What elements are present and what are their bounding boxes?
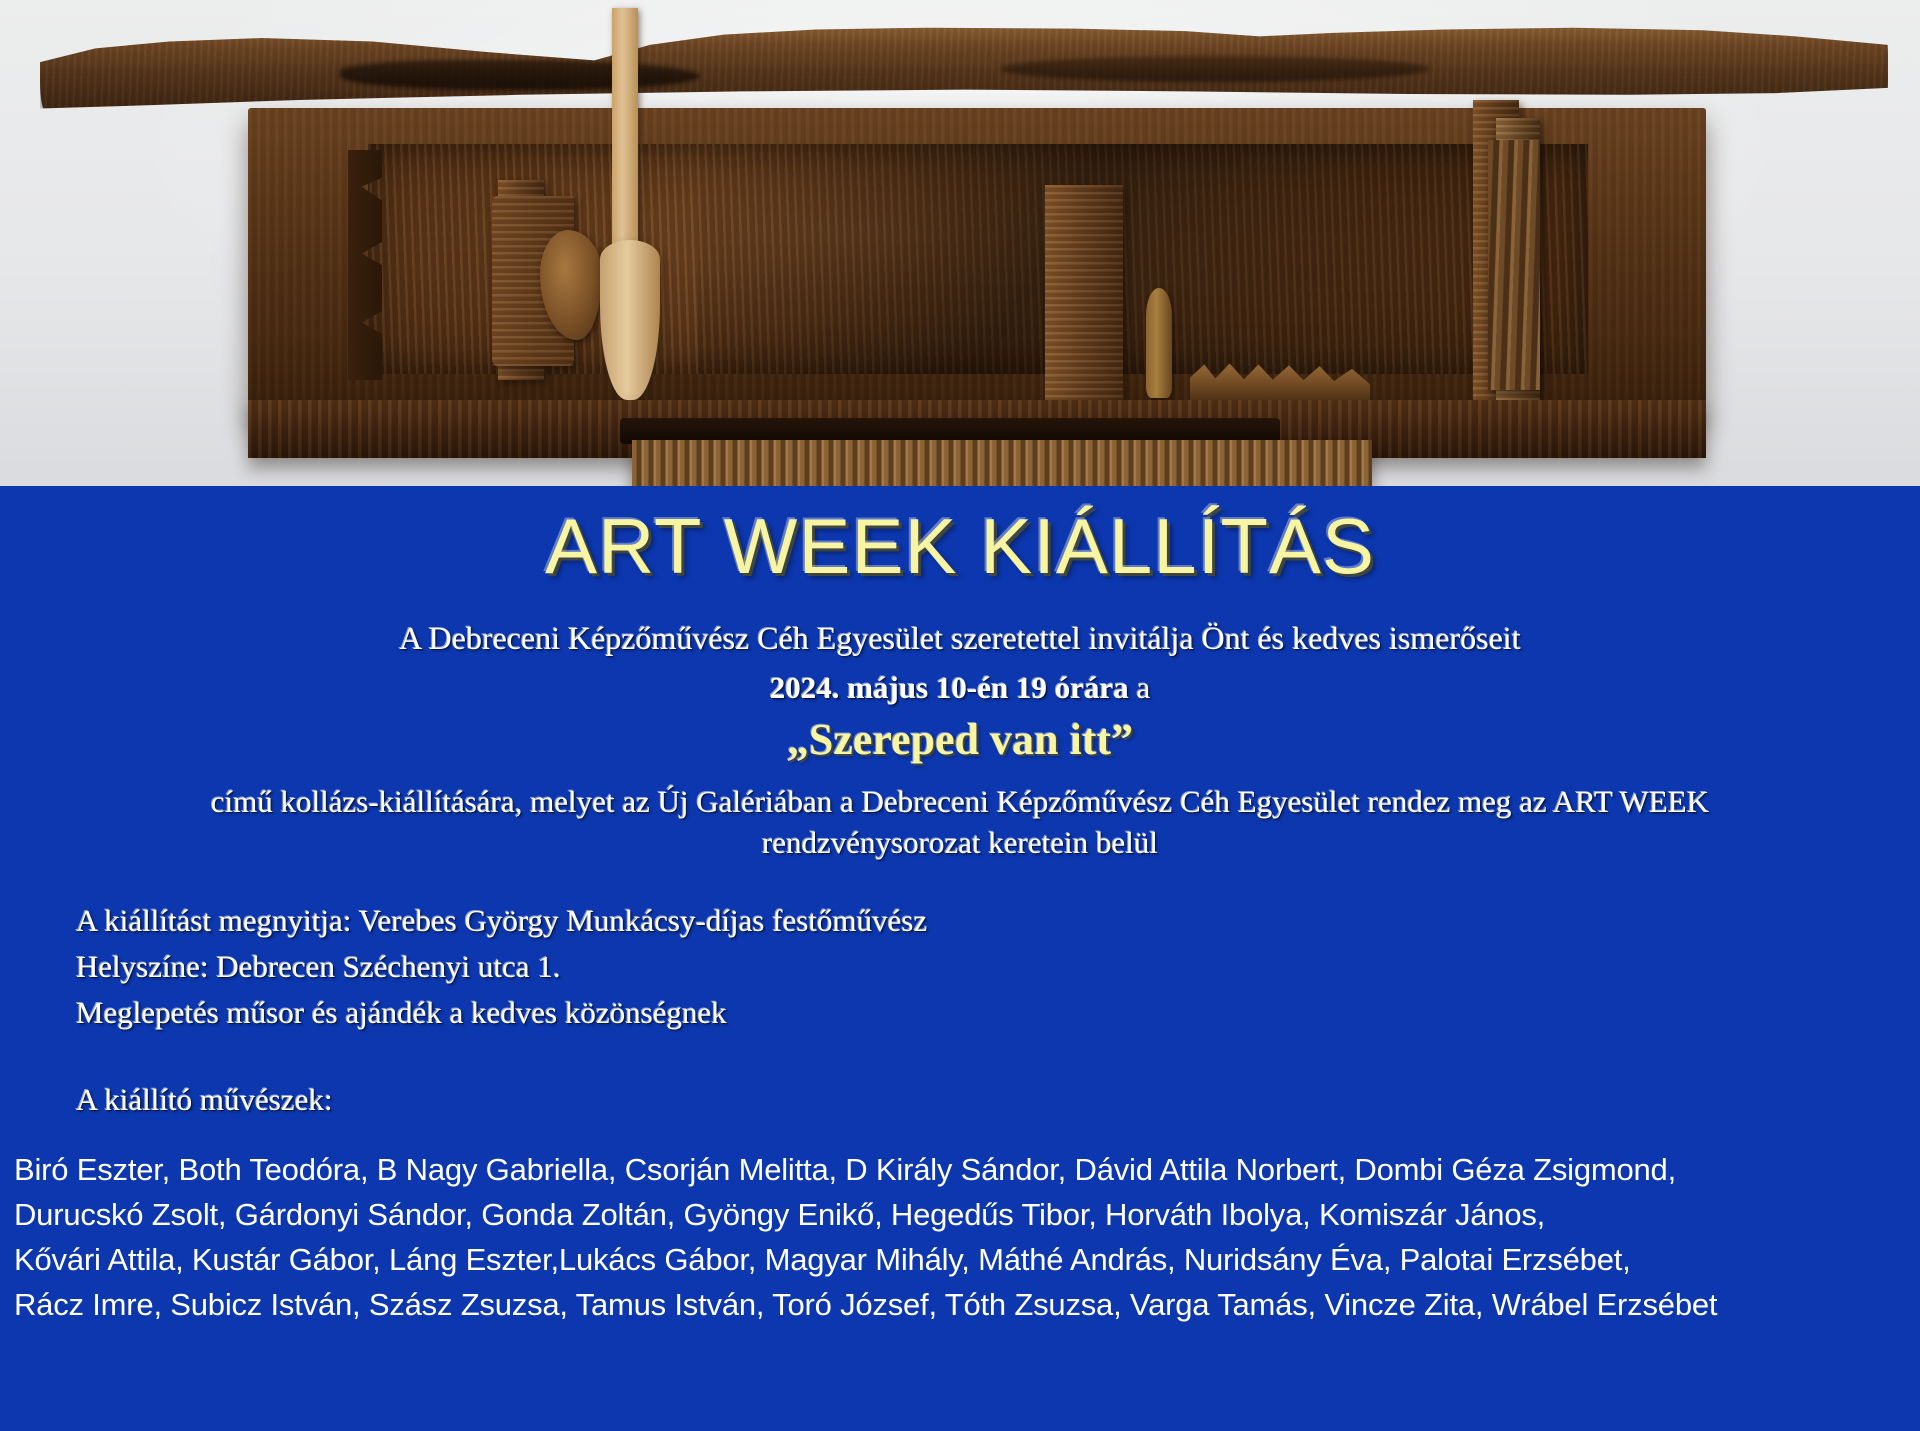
description-line-1: című kollázs-kiállítására, melyet az Új …: [40, 782, 1880, 823]
poster-title: ART WEEK KIÁLLÍTÁS: [0, 506, 1920, 588]
description-block: című kollázs-kiállítására, melyet az Új …: [40, 782, 1880, 864]
opener-line: A kiállítást megnyitja: Verebes György M…: [76, 898, 927, 944]
exhibition-work-title: „Szereped van itt”: [0, 714, 1920, 765]
artist-name-list: Biró Eszter, Both Teodóra, B Nagy Gabrie…: [14, 1148, 1906, 1328]
date-tail: a: [1129, 670, 1151, 705]
top-plank-char-mark-left: [340, 60, 700, 90]
wooden-assemblage-photo: [0, 0, 1920, 490]
artist-line: Durucskó Zsolt, Gárdonyi Sándor, Gonda Z…: [14, 1193, 1906, 1238]
bark-block: [1488, 140, 1540, 390]
top-plank-char-mark-right: [1000, 56, 1430, 82]
artists-heading: A kiállító művészek:: [76, 1082, 333, 1118]
event-details: A kiállítást megnyitja: Verebes György M…: [76, 898, 927, 1036]
venue-line: Helyszíne: Debrecen Széchenyi utca 1.: [76, 944, 927, 990]
carved-spindle: [1146, 288, 1172, 398]
description-line-2: rendzvénysorozat keretein belül: [40, 823, 1880, 864]
poster: ART WEEK KIÁLLÍTÁS A Debreceni Képzőművé…: [0, 0, 1920, 1431]
wood-batten-center-right: [1045, 185, 1123, 400]
artist-line: Rácz Imre, Subicz István, Szász Zsuzsa, …: [14, 1283, 1906, 1328]
ribbed-brush-slab: [632, 440, 1372, 490]
artist-line: Biró Eszter, Both Teodóra, B Nagy Gabrie…: [14, 1148, 1906, 1193]
artist-line: Kővári Attila, Kustár Gábor, Láng Eszter…: [14, 1238, 1906, 1283]
invitation-line: A Debreceni Képzőművész Céh Egyesület sz…: [0, 620, 1920, 657]
batten-grain: [1045, 185, 1123, 400]
date-bold: 2024. május 10-én 19 órára: [770, 670, 1129, 705]
surprise-line: Meglepetés műsor és ajándék a kedves köz…: [76, 990, 927, 1036]
date-line: 2024. május 10-én 19 órára a: [0, 670, 1920, 706]
invitation-panel: ART WEEK KIÁLLÍTÁS A Debreceni Képzőművé…: [0, 486, 1920, 1431]
